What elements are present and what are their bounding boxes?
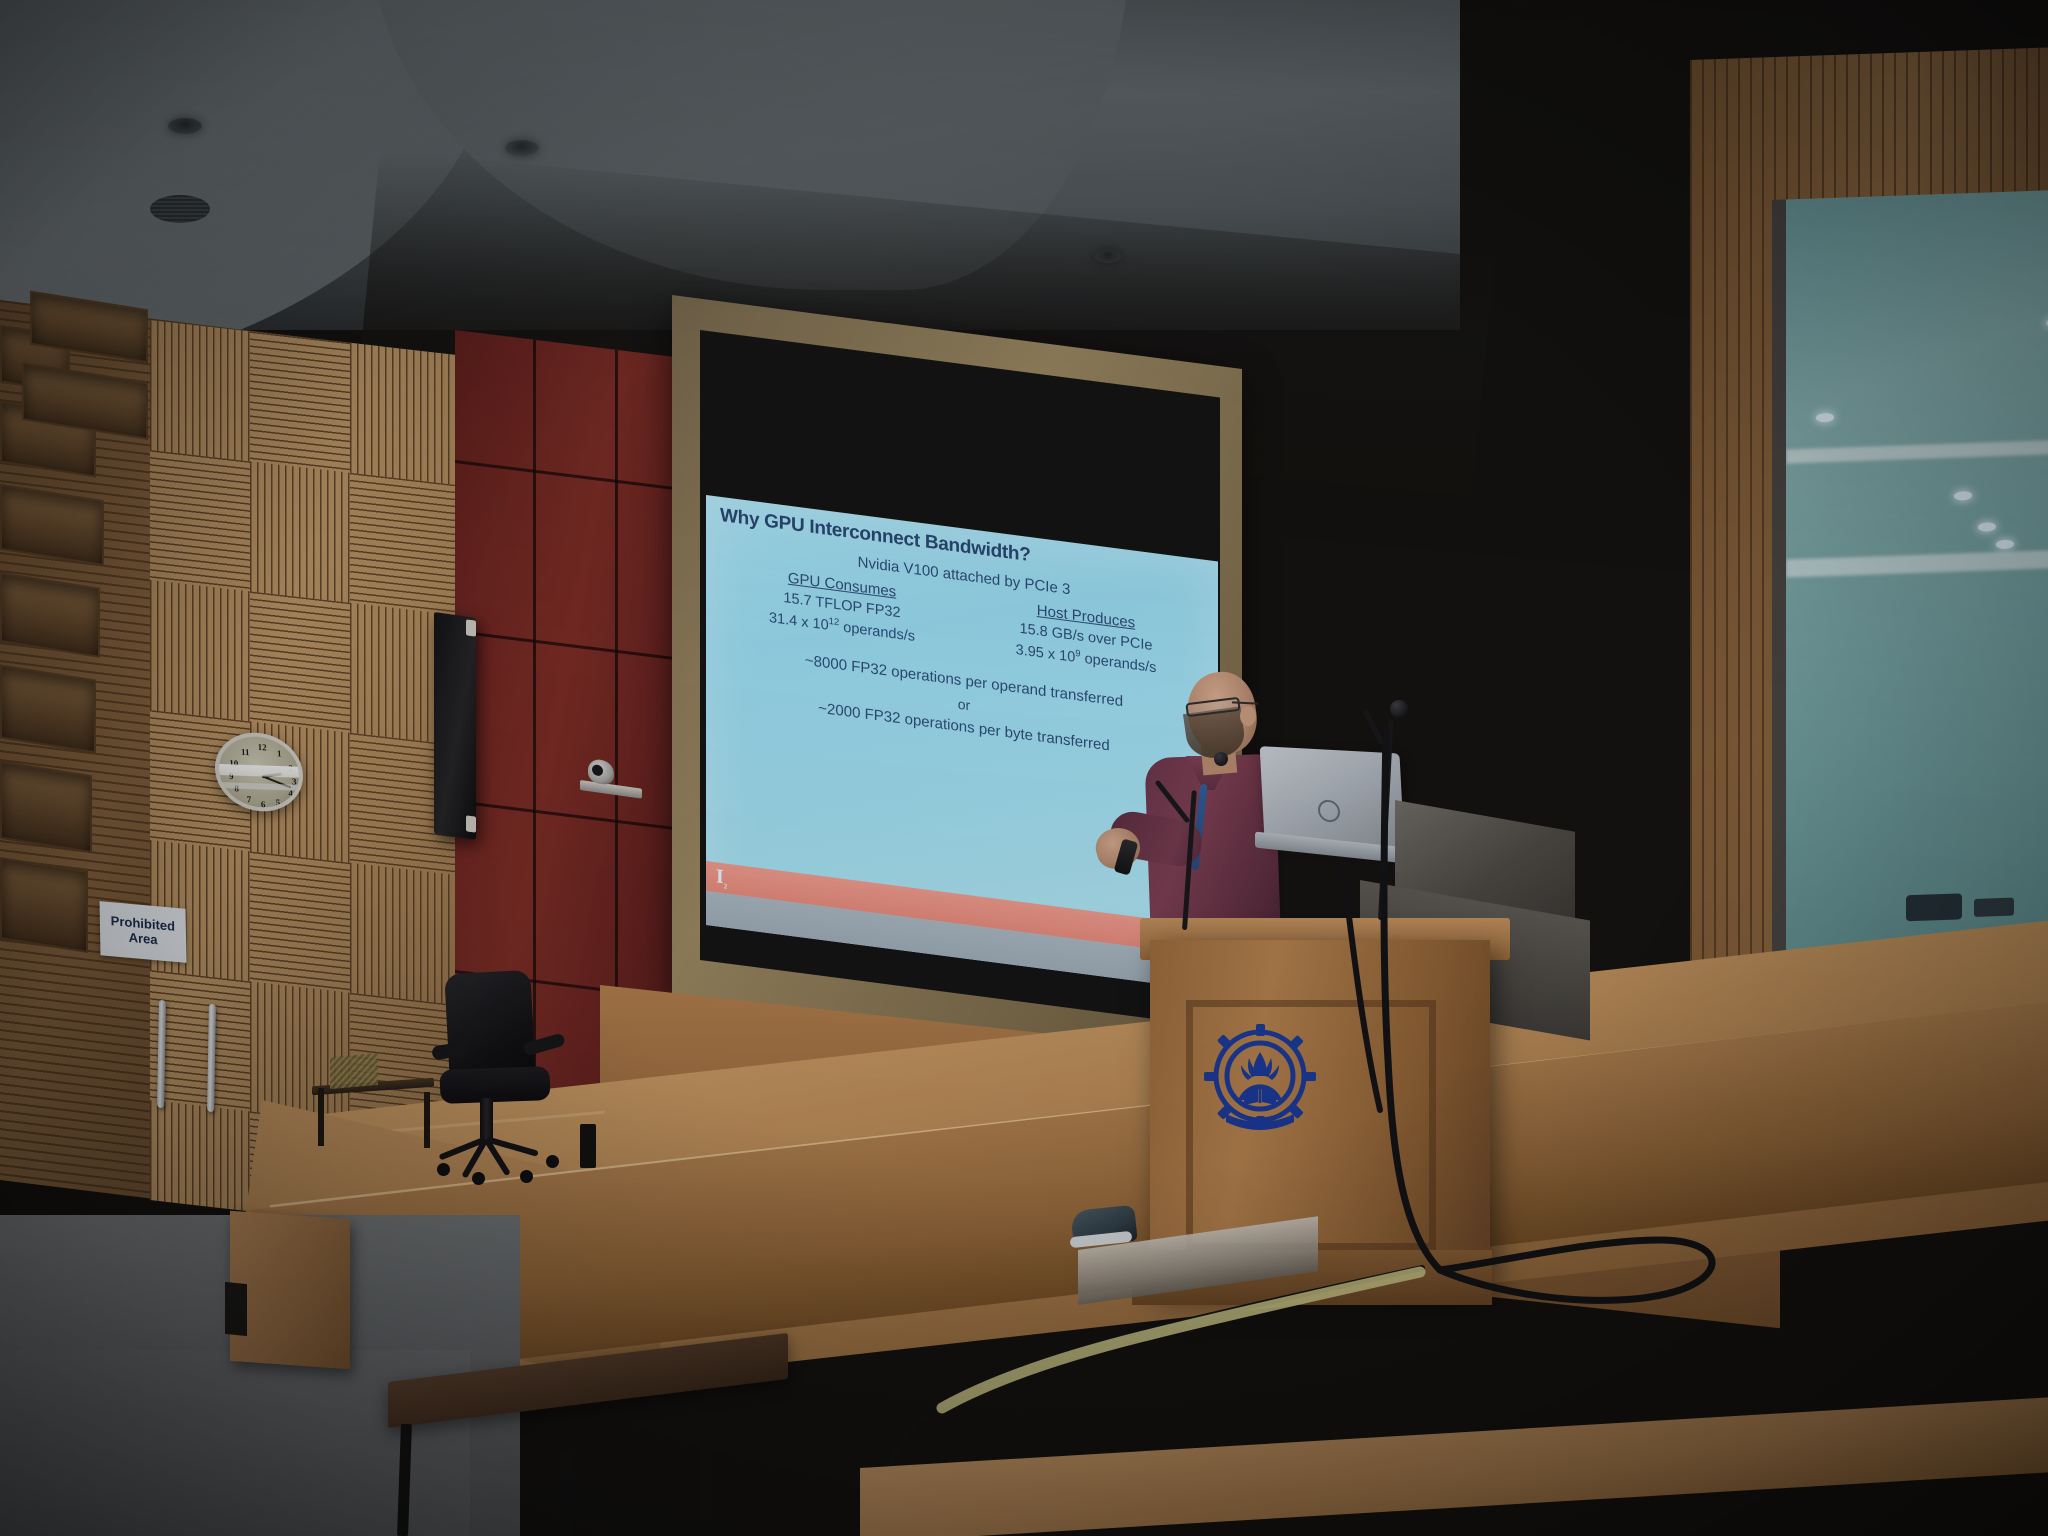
side-table-leg — [318, 1088, 324, 1146]
slat-tile — [250, 461, 350, 602]
reflected-ceiling-light — [1978, 522, 1996, 532]
slat-tile — [250, 591, 350, 732]
illinois-i-logo: I2 — [716, 865, 727, 890]
prohibited-area-sign: Prohibited Area — [100, 901, 187, 963]
office-chair-back — [444, 970, 536, 1082]
ceiling-downlight — [168, 118, 202, 134]
footer-logo-sub: 2 — [724, 882, 728, 890]
booth-dark-object — [1906, 893, 1962, 921]
sign-line-2: Area — [129, 931, 158, 948]
office-chair-seat — [439, 1066, 550, 1104]
table-object — [330, 1053, 378, 1089]
slat-tile — [250, 851, 350, 992]
reflected-ceiling-light — [1954, 491, 1972, 501]
foreground-table-leg — [560, 1452, 571, 1536]
clock-number: 1 — [273, 749, 285, 759]
clock-number: 6 — [257, 800, 269, 810]
slat-tile — [350, 863, 460, 1006]
clock-number: 12 — [256, 743, 268, 753]
wall-shelf-niche — [0, 664, 96, 753]
reflected-ceiling-light — [1996, 540, 2014, 550]
presenter-ear — [1240, 706, 1256, 726]
slat-tile — [150, 580, 250, 721]
ceiling-downlight — [505, 140, 539, 156]
iit-bombay-emblem-icon — [1200, 1018, 1320, 1138]
reflected-ceiling-light — [1816, 413, 1834, 423]
wall-shelf-niche — [0, 857, 88, 953]
lecture-hall-photo: 12 1 2 3 4 5 6 7 8 9 10 11 Prohibited Ar… — [0, 0, 2048, 1536]
gpu-line-2-base: 31.4 x 10 — [769, 610, 829, 634]
side-table-leg — [424, 1092, 430, 1148]
panel-seam — [455, 630, 695, 665]
wooden-stage-box — [230, 1211, 350, 1369]
wall-shelf-niche — [0, 761, 92, 854]
clock-number: 11 — [239, 748, 251, 758]
host-line-2-base: 3.95 x 10 — [1016, 642, 1076, 666]
panel-seam — [455, 800, 695, 835]
slat-tile — [150, 450, 250, 591]
mic-capsule-left — [1214, 752, 1228, 766]
clock-number: 5 — [272, 798, 284, 808]
slat-tile — [250, 331, 350, 472]
panel-seam — [455, 460, 695, 495]
window-reflection-band — [1786, 439, 2048, 463]
speaker-bracket — [466, 815, 476, 832]
slat-tile — [350, 473, 460, 616]
control-booth-window — [1772, 190, 2048, 990]
line-array-speaker — [434, 612, 476, 840]
stage-box-notch — [225, 1282, 247, 1336]
foreground-bench — [860, 1397, 2048, 1536]
acoustic-slat-panel — [150, 320, 460, 1235]
ceiling-air-vent — [150, 195, 210, 223]
gpu-line-2-exponent: 12 — [829, 616, 840, 628]
stage-dark-object — [580, 1124, 596, 1168]
slat-tile — [150, 320, 250, 461]
office-chair-post — [480, 1098, 493, 1138]
panel-seam — [533, 340, 536, 1120]
office-chair-caster — [437, 1163, 450, 1176]
slat-tile — [350, 343, 460, 486]
office-chair-caster — [546, 1155, 559, 1168]
clock-number: 7 — [243, 795, 255, 805]
window-reflection-band — [1786, 549, 2048, 577]
mic-capsule-right — [1390, 700, 1408, 718]
presentation-slide: Why GPU Interconnect Bandwidth? Nvidia V… — [706, 495, 1218, 991]
foreground-table-leg — [700, 1450, 711, 1536]
office-chair-caster — [472, 1172, 485, 1185]
footer-logo-letter: I — [716, 865, 724, 888]
speaker-bracket — [466, 619, 476, 636]
office-chair-caster — [520, 1170, 533, 1183]
slat-tile — [150, 1100, 250, 1221]
booth-dark-object — [1974, 898, 2014, 917]
